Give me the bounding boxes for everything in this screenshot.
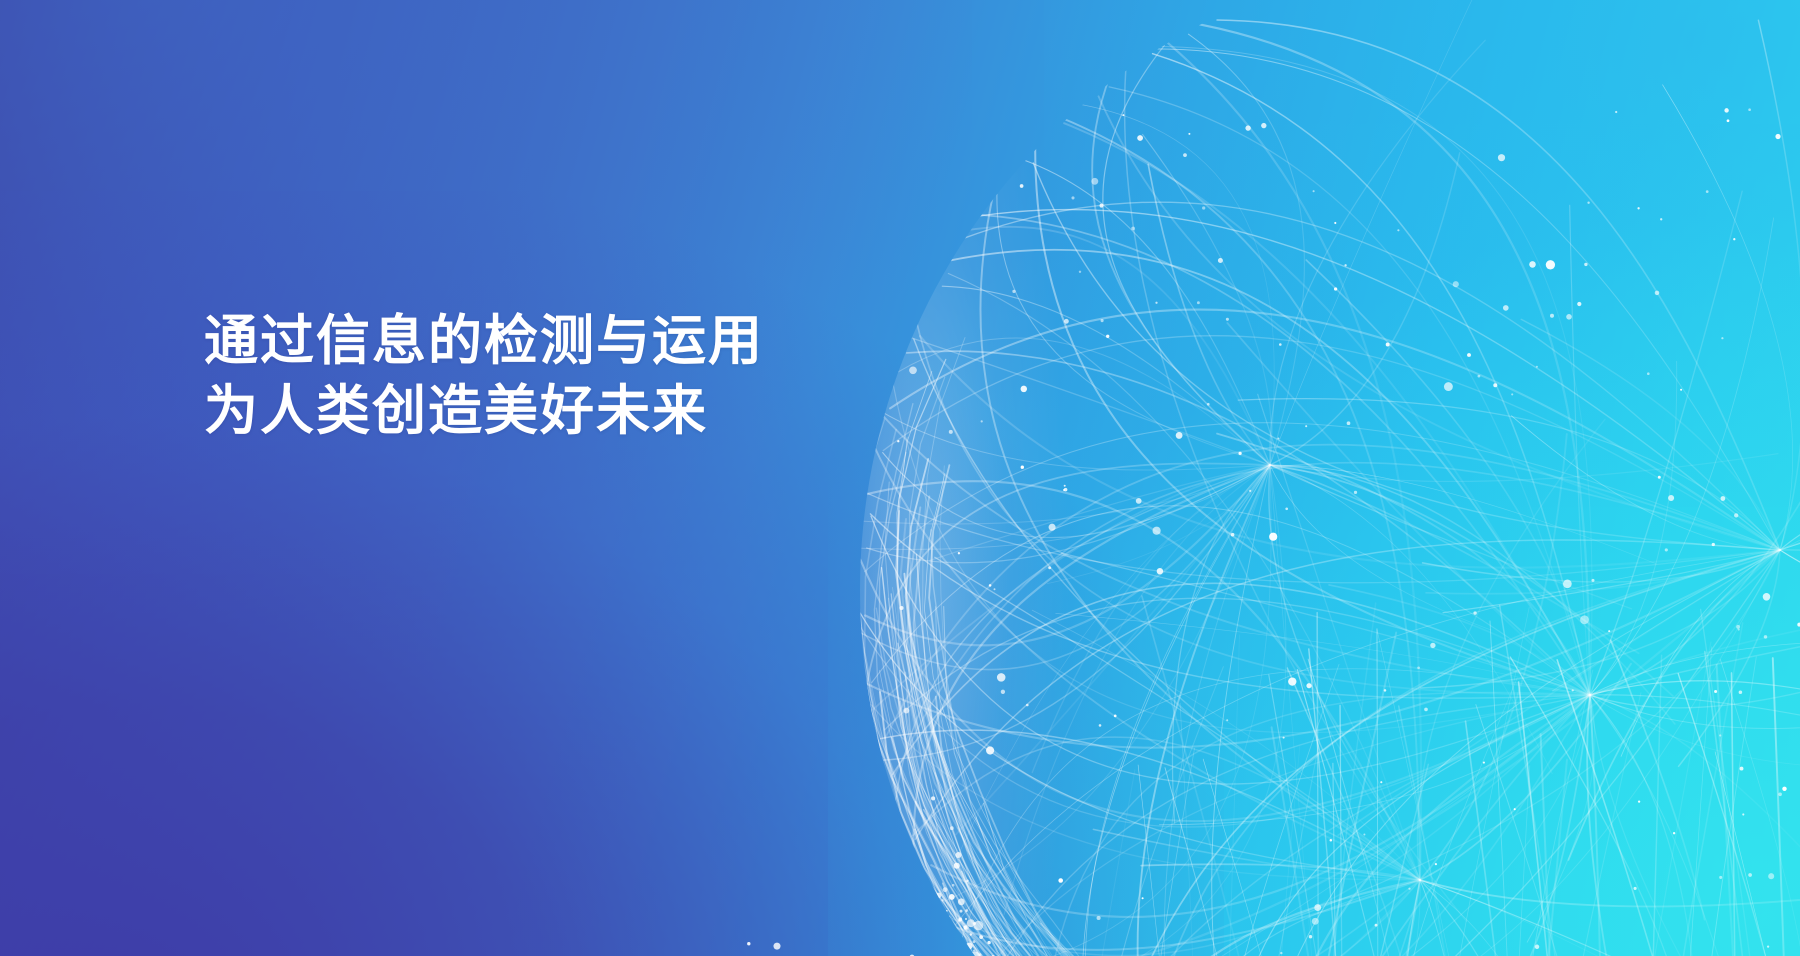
headline-line-2: 为人类创造美好未来 [204, 376, 764, 446]
headline-block: 通过信息的检测与运用 为人类创造美好未来 [204, 306, 764, 446]
background-tint-bottom-right [828, 124, 1800, 956]
headline-line-1: 通过信息的检测与运用 [204, 306, 764, 376]
hero-banner: 通过信息的检测与运用 为人类创造美好未来 [0, 0, 1800, 956]
